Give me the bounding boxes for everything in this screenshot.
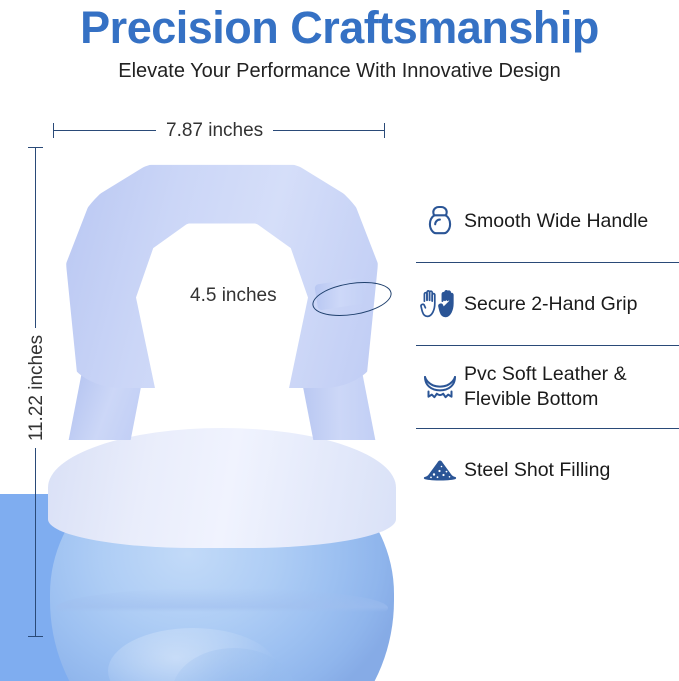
kettlebell-material-seam [56, 588, 388, 628]
feature-item-pvc-soft-leather[interactable]: Pvc Soft Leather & Flevible Bottom [416, 346, 679, 428]
feature-label: Smooth Wide Handle [464, 209, 648, 234]
width-dimension-cap-right [384, 123, 385, 138]
flexible-bottom-icon [416, 371, 464, 403]
feature-label-line1: Pvc Soft Leather & [464, 362, 627, 387]
steel-shot-pile-icon [416, 456, 464, 484]
height-dimension-cap-top [28, 147, 43, 148]
feature-label: Steel Shot Filling [464, 458, 610, 483]
feature-item-secure-2-hand-grip[interactable]: Secure 2-Hand Grip [416, 263, 679, 345]
feature-list: Smooth Wide Handle [416, 180, 679, 511]
feature-label-line2: Flevible Bottom [464, 387, 627, 412]
height-dimension-label: 11.22 inches [24, 328, 50, 448]
kettlebell-icon [416, 204, 464, 238]
feature-item-smooth-wide-handle[interactable]: Smooth Wide Handle [416, 180, 679, 262]
grip-dimension-label: 4.5 inches [190, 283, 277, 309]
width-dimension-label: 7.87 inches [156, 118, 273, 144]
page-subtitle: Elevate Your Performance With Innovative… [0, 58, 679, 84]
product-infographic: Precision Craftsmanship Elevate Your Per… [0, 0, 679, 681]
feature-item-steel-shot-filling[interactable]: Steel Shot Filling [416, 429, 679, 511]
height-dimension-cap-bottom [28, 636, 43, 637]
two-hands-icon [416, 287, 464, 321]
page-title: Precision Craftsmanship [0, 2, 679, 54]
feature-label: Pvc Soft Leather & Flevible Bottom [464, 362, 627, 412]
kettlebell-shoulder [48, 428, 396, 548]
feature-label: Secure 2-Hand Grip [464, 292, 637, 317]
kettlebell-illustration: 15LB [48, 158, 396, 628]
width-dimension-cap-left [53, 123, 54, 138]
